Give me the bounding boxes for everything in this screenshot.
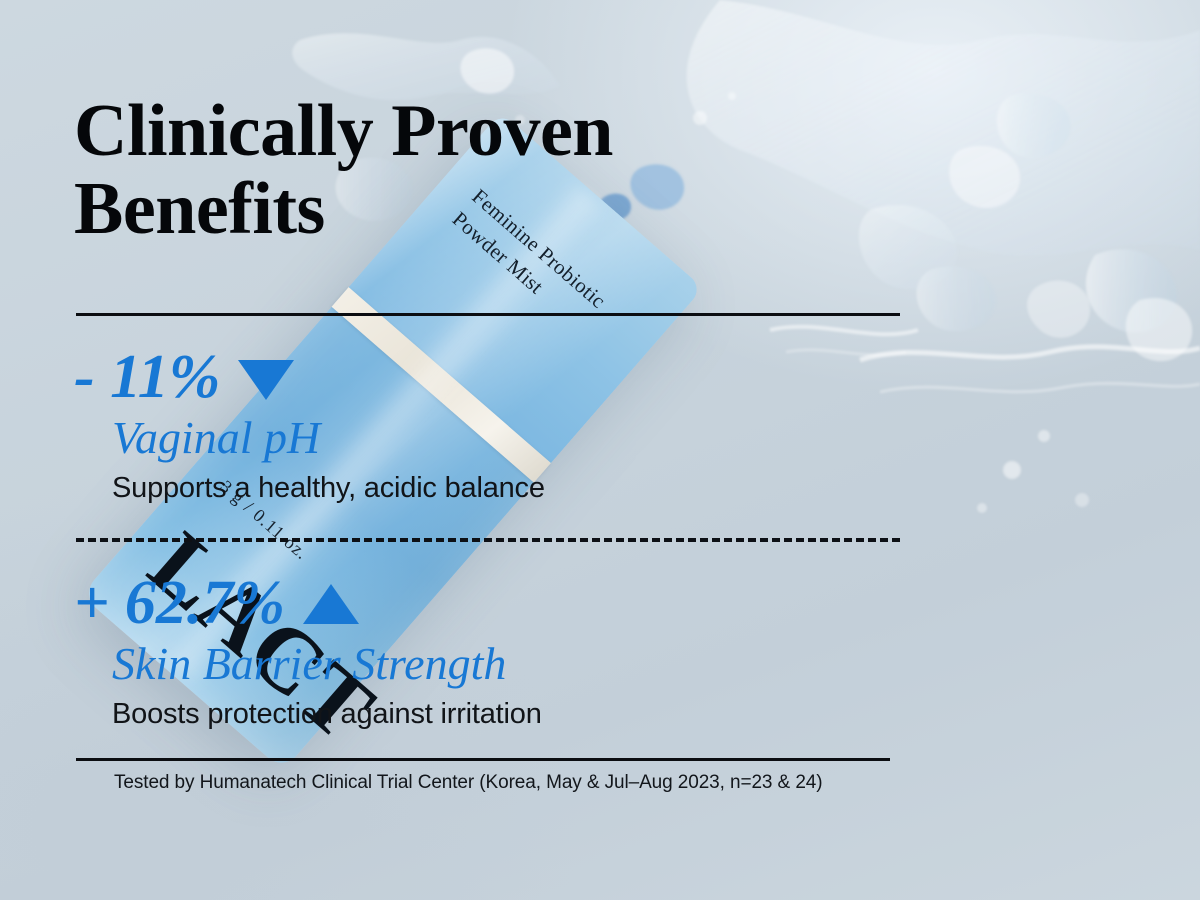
stat-description-ph: Supports a healthy, acidic balance xyxy=(112,471,545,506)
triangle-up-icon xyxy=(303,584,359,624)
divider-top xyxy=(76,313,900,316)
stat-block-vaginal-ph: - 11% Vaginal pH Supports a healthy, aci… xyxy=(74,344,545,505)
divider-dashed xyxy=(76,538,900,542)
footnote-text: Tested by Humanatech Clinical Trial Cent… xyxy=(114,772,822,794)
divider-bottom xyxy=(76,758,890,761)
stat-block-skin-barrier: + 62.7% Skin Barrier Strength Boosts pro… xyxy=(74,570,542,731)
stat-label-barrier: Skin Barrier Strength xyxy=(112,638,542,690)
stat-value-barrier: + 62.7% xyxy=(74,572,285,634)
stat-label-ph: Vaginal pH xyxy=(112,412,545,464)
stat-description-barrier: Boosts protection against irritation xyxy=(112,697,542,732)
page-title: Clinically Proven Benefits xyxy=(74,92,714,249)
headline-line-1: Clinically Proven xyxy=(74,92,714,170)
headline-line-2: Benefits xyxy=(74,170,714,248)
stat-value-ph: - 11% xyxy=(74,346,220,408)
triangle-down-icon xyxy=(238,360,294,400)
product-benefits-banner: Feminine Probiotic Powder Mist 3 g / 0.1… xyxy=(0,0,1200,900)
stat-value-row: - 11% xyxy=(74,344,545,410)
stat-value-row: + 62.7% xyxy=(74,570,542,636)
content-overlay: Clinically Proven Benefits - 11% Vaginal… xyxy=(0,0,1200,900)
